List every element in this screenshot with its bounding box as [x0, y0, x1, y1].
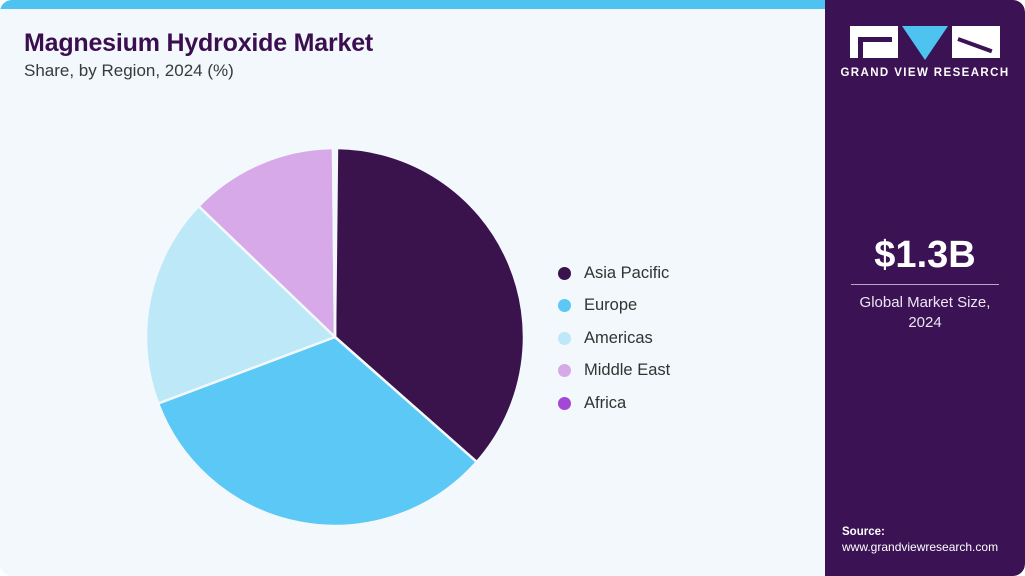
market-size-stat: $1.3B Global Market Size, 2024 — [825, 236, 1025, 333]
legend-color-swatch-icon — [558, 364, 571, 377]
page-title: Magnesium Hydroxide Market — [24, 29, 373, 58]
legend-label: Europe — [584, 296, 637, 315]
brand-logo: GRAND VIEW RESEARCH — [825, 26, 1025, 79]
chart-card: Magnesium Hydroxide Market Share, by Reg… — [0, 0, 1025, 576]
legend-item[interactable]: Asia Pacific — [558, 257, 808, 290]
legend-label: Middle East — [584, 361, 670, 380]
chart-legend: Asia PacificEuropeAmericasMiddle EastAfr… — [558, 257, 808, 420]
source-label: Source: — [842, 526, 1022, 538]
legend-item[interactable]: Middle East — [558, 355, 808, 388]
stat-value: $1.3B — [825, 236, 1025, 276]
stat-caption: Global Market Size, 2024 — [825, 293, 1025, 334]
legend-item[interactable]: Africa — [558, 387, 808, 420]
legend-color-swatch-icon — [558, 299, 571, 312]
logo-letter-g-icon — [850, 26, 898, 58]
source-block: Source: www.grandviewresearch.com — [842, 526, 1022, 554]
brand-sidebar: GRAND VIEW RESEARCH $1.3B Global Market … — [825, 0, 1025, 576]
pie-chart-svg — [130, 134, 550, 554]
logo-marks — [825, 26, 1025, 60]
logo-letter-v-triangle-icon — [902, 26, 948, 60]
pie-slice-group — [146, 148, 524, 526]
legend-color-swatch-icon — [558, 332, 571, 345]
stat-divider — [851, 284, 999, 285]
chart-panel: Magnesium Hydroxide Market Share, by Reg… — [0, 9, 825, 576]
pie-chart — [130, 134, 550, 554]
logo-letter-r-icon — [952, 26, 1000, 58]
top-accent-bar — [0, 0, 825, 9]
legend-label: Africa — [584, 394, 626, 413]
source-url[interactable]: www.grandviewresearch.com — [842, 540, 1022, 554]
legend-label: Americas — [584, 329, 653, 348]
legend-item[interactable]: Europe — [558, 290, 808, 323]
page-subtitle: Share, by Region, 2024 (%) — [24, 61, 234, 81]
legend-color-swatch-icon — [558, 267, 571, 280]
legend-item[interactable]: Americas — [558, 322, 808, 355]
legend-color-swatch-icon — [558, 397, 571, 410]
logo-wordmark: GRAND VIEW RESEARCH — [825, 67, 1025, 79]
legend-label: Asia Pacific — [584, 264, 669, 283]
